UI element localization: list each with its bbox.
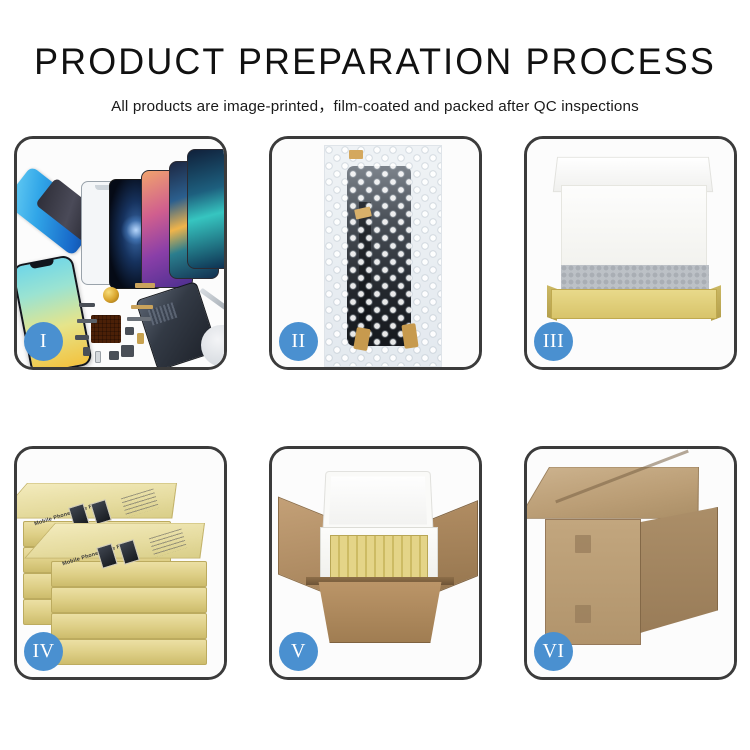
carton-front-face bbox=[545, 519, 641, 645]
yellow-boxes-inside bbox=[330, 535, 428, 579]
hand-icon bbox=[201, 325, 227, 367]
product-preparation-process-page: PRODUCT PREPARATION PROCESS All products… bbox=[0, 0, 750, 750]
box-front-panel bbox=[551, 289, 717, 319]
step-badge-2: II bbox=[279, 322, 318, 361]
part-dot bbox=[79, 303, 95, 307]
part-dot bbox=[95, 351, 101, 363]
speaker-module-icon bbox=[103, 287, 119, 303]
process-step-grid: I II bbox=[14, 136, 736, 680]
process-step-panel-5: V bbox=[269, 446, 482, 680]
flex-cable bbox=[127, 317, 151, 321]
part-dot bbox=[125, 327, 134, 335]
stacked-box bbox=[51, 613, 207, 639]
step-badge-1: I bbox=[24, 322, 63, 361]
flex-cable bbox=[131, 305, 153, 309]
stacked-box bbox=[51, 639, 207, 665]
part-dot bbox=[121, 345, 134, 357]
stacked-box bbox=[51, 561, 207, 587]
carton-flap-tab bbox=[575, 605, 591, 623]
tape-piece bbox=[349, 150, 363, 159]
flex-cable bbox=[77, 319, 97, 323]
flex-cable bbox=[135, 283, 155, 288]
carton-top-face bbox=[524, 467, 699, 519]
carton-front-panel bbox=[310, 581, 450, 643]
step-badge-6: VI bbox=[534, 632, 573, 671]
process-step-panel-2: II bbox=[269, 136, 482, 370]
part-dot bbox=[137, 333, 144, 344]
foam-box-lid bbox=[323, 471, 434, 531]
part-dot bbox=[75, 335, 89, 340]
teal-wave-phone-icon bbox=[187, 149, 227, 269]
process-step-panel-6: VI bbox=[524, 446, 737, 680]
page-title: PRODUCT PREPARATION PROCESS bbox=[11, 41, 739, 83]
part-dot bbox=[83, 347, 90, 356]
carton-side-face bbox=[640, 507, 718, 633]
bubble-texture bbox=[325, 146, 441, 366]
bubble-wrap-contents bbox=[561, 265, 709, 291]
part-dot bbox=[109, 351, 119, 360]
process-step-panel-1: I bbox=[14, 136, 227, 370]
process-step-panel-4: Mobile Phone Spare Parts Mobile Phone Sp… bbox=[14, 446, 227, 680]
step-badge-5: V bbox=[279, 632, 318, 671]
stacked-box bbox=[51, 587, 207, 613]
page-subtitle: All products are image-printed，film-coat… bbox=[0, 94, 750, 116]
step-badge-4: IV bbox=[24, 632, 63, 671]
carton-flap-tab bbox=[575, 535, 591, 553]
process-step-panel-3: III bbox=[524, 136, 737, 370]
box-inner-liner bbox=[561, 185, 707, 269]
bubble-wrap-bag bbox=[324, 145, 442, 367]
step-badge-3: III bbox=[534, 322, 573, 361]
header: PRODUCT PREPARATION PROCESS All products… bbox=[0, 0, 750, 116]
